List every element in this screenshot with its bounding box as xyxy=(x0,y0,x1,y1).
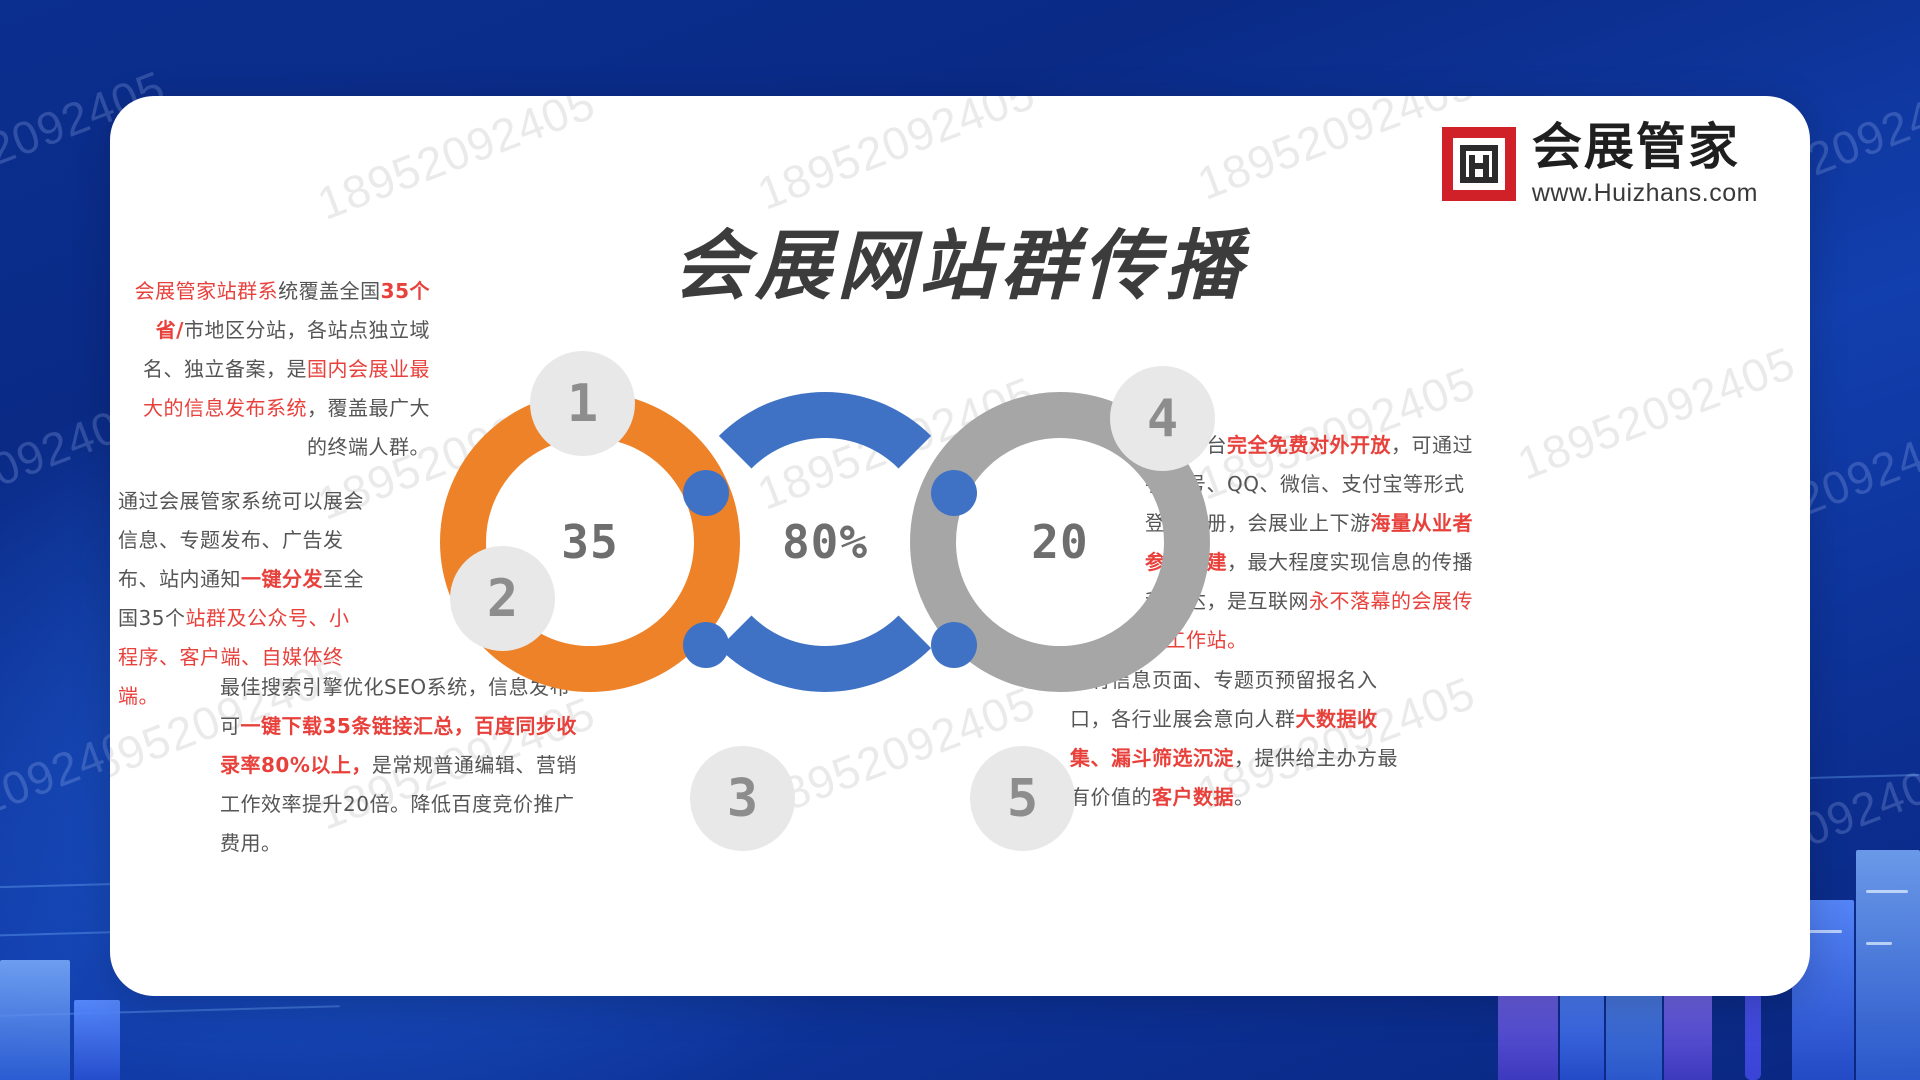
description-block-5: 所有信息页面、专题页预留报名入口，各行业展会意向人群大数据收集、漏斗筛选沉淀，提… xyxy=(1070,661,1415,817)
building xyxy=(74,1000,120,1080)
b5-seg-5: 。 xyxy=(1234,785,1255,809)
ring-blue-cap xyxy=(931,470,977,516)
ring-value-gray: 20 xyxy=(1031,515,1088,569)
watermark-text: 18952092405 xyxy=(1190,96,1482,211)
ring-blue-cap xyxy=(931,622,977,668)
ring-blue-cap xyxy=(683,470,729,516)
logo-brand-name: 会展管家 xyxy=(1532,122,1758,172)
ring-value-orange: 35 xyxy=(561,515,618,569)
logo-website-url: www.Huizhans.com xyxy=(1532,181,1758,206)
infographic-poster: 18952092405 18952092405 18952092405 1895… xyxy=(0,0,1920,1080)
b1-seg-6: ，覆盖最广大的终端人群。 xyxy=(307,396,430,459)
building-window xyxy=(1866,890,1908,893)
step-badge-2: 2 xyxy=(450,546,555,651)
b2-seg-2: 一键分发 xyxy=(241,567,323,591)
brand-logo[interactable]: 会展管家 www.Huizhans.com xyxy=(1442,122,1758,206)
step-badge-5: 5 xyxy=(970,746,1075,851)
ring-blue-cap xyxy=(683,622,729,668)
b1-seg-2: 统覆盖全国 xyxy=(278,279,381,303)
b1-seg-1: 会展管家站群系 xyxy=(135,279,279,303)
huizhans-mark-icon xyxy=(1442,127,1516,201)
watermark-text: 18952092405 xyxy=(750,96,1042,221)
ring-value-blue: 80% xyxy=(782,515,868,569)
description-block-1: 会展管家站群系统覆盖全国35个省/市地区分站，各站点独立域名、独立备案，是国内会… xyxy=(130,272,430,467)
building xyxy=(0,960,70,1080)
content-card: 18952092405 18952092405 18952092405 1895… xyxy=(110,96,1810,996)
building-window xyxy=(1866,942,1892,945)
b5-seg-4: 客户数据 xyxy=(1152,785,1234,809)
description-block-3: 最佳搜索引擎优化SEO系统，信息发布可一键下载35条链接汇总，百度同步收录率80… xyxy=(220,668,580,863)
watermark-text: 18952092405 xyxy=(1510,335,1802,490)
building xyxy=(1856,850,1920,1080)
b4-seg-2: 完全免费对外开放 xyxy=(1227,433,1391,457)
logo-text-group: 会展管家 www.Huizhans.com xyxy=(1532,122,1758,206)
step-badge-4: 4 xyxy=(1110,366,1215,471)
logo-h-stroke xyxy=(1469,163,1489,169)
step-badge-3: 3 xyxy=(690,746,795,851)
light-streak xyxy=(0,1005,340,1016)
step-badge-1: 1 xyxy=(530,351,635,456)
